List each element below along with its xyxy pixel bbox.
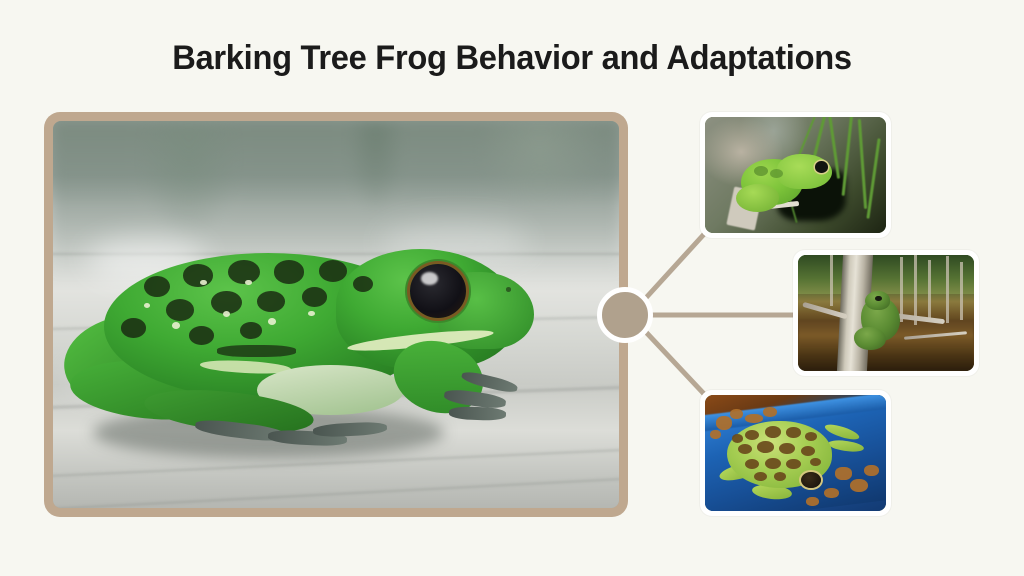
thumbnail-photo <box>705 395 886 511</box>
background-tree <box>914 255 917 325</box>
thumbnail-photo <box>705 117 886 233</box>
frog-spot <box>257 291 285 312</box>
thumbnail-frog-spot <box>757 441 773 453</box>
connector-line-bottom <box>644 330 706 396</box>
debris <box>716 416 732 430</box>
frog-tubercle <box>223 311 230 317</box>
frog-tubercle <box>200 280 207 285</box>
thumbnail-frog-leg <box>854 327 886 350</box>
thumbnail-frog-spot <box>774 472 787 481</box>
connector-line-top <box>644 232 706 300</box>
frog-spot <box>319 260 347 282</box>
background-tree <box>960 262 963 320</box>
background-tree <box>830 255 833 306</box>
thumbnail-frog-spot <box>786 427 800 437</box>
frog-eye <box>410 264 467 318</box>
frog-spot <box>183 264 212 286</box>
thumbnail-frog-spot <box>765 426 781 438</box>
thumbnail-frog-spot <box>786 459 800 469</box>
debris <box>745 414 763 423</box>
thumbnail-frog-spot <box>810 458 821 466</box>
frog-spot <box>144 276 170 297</box>
thumbnail-frog-leg <box>736 184 779 212</box>
debris <box>850 479 868 493</box>
main-frog-photo <box>53 121 619 508</box>
frog-eye-highlight <box>421 272 438 285</box>
frog-toe <box>449 406 506 421</box>
main-photo-frame[interactable] <box>44 112 628 517</box>
frog-spot <box>274 260 305 283</box>
debris <box>864 465 878 477</box>
debris <box>710 430 721 439</box>
debris <box>835 467 851 480</box>
frog-spot <box>166 299 194 321</box>
frog-tubercle <box>268 318 276 325</box>
thumbnail-frog-eye <box>815 161 828 173</box>
thumbnail-frog-spot <box>765 458 781 470</box>
thumbnail-frog-on-birch-trunk[interactable] <box>793 250 979 376</box>
thumbnail-frog-spot <box>754 472 767 481</box>
thumbnail-frog-on-blue-tray[interactable] <box>700 390 891 516</box>
background-tree <box>946 256 949 323</box>
connector-hub[interactable] <box>597 287 653 343</box>
frog-flank-line <box>217 345 296 357</box>
frog-spot <box>189 326 214 345</box>
thumbnail-photo <box>798 255 974 371</box>
thumbnail-frog-spot <box>732 434 743 442</box>
frog-spot <box>121 318 146 337</box>
slide-canvas: Barking Tree Frog Behavior and Adaptatio… <box>0 0 1024 576</box>
frog-spot <box>302 287 327 306</box>
thumbnail-frog-spot <box>738 444 752 454</box>
debris <box>763 407 777 417</box>
thumbnail-frog-eye <box>801 472 821 488</box>
thumbnail-frog-on-rock[interactable] <box>700 112 891 238</box>
background-tree <box>928 260 931 320</box>
debris <box>824 488 838 498</box>
debris <box>730 409 743 419</box>
frog-illustration <box>53 121 619 508</box>
background-tree <box>900 257 903 322</box>
